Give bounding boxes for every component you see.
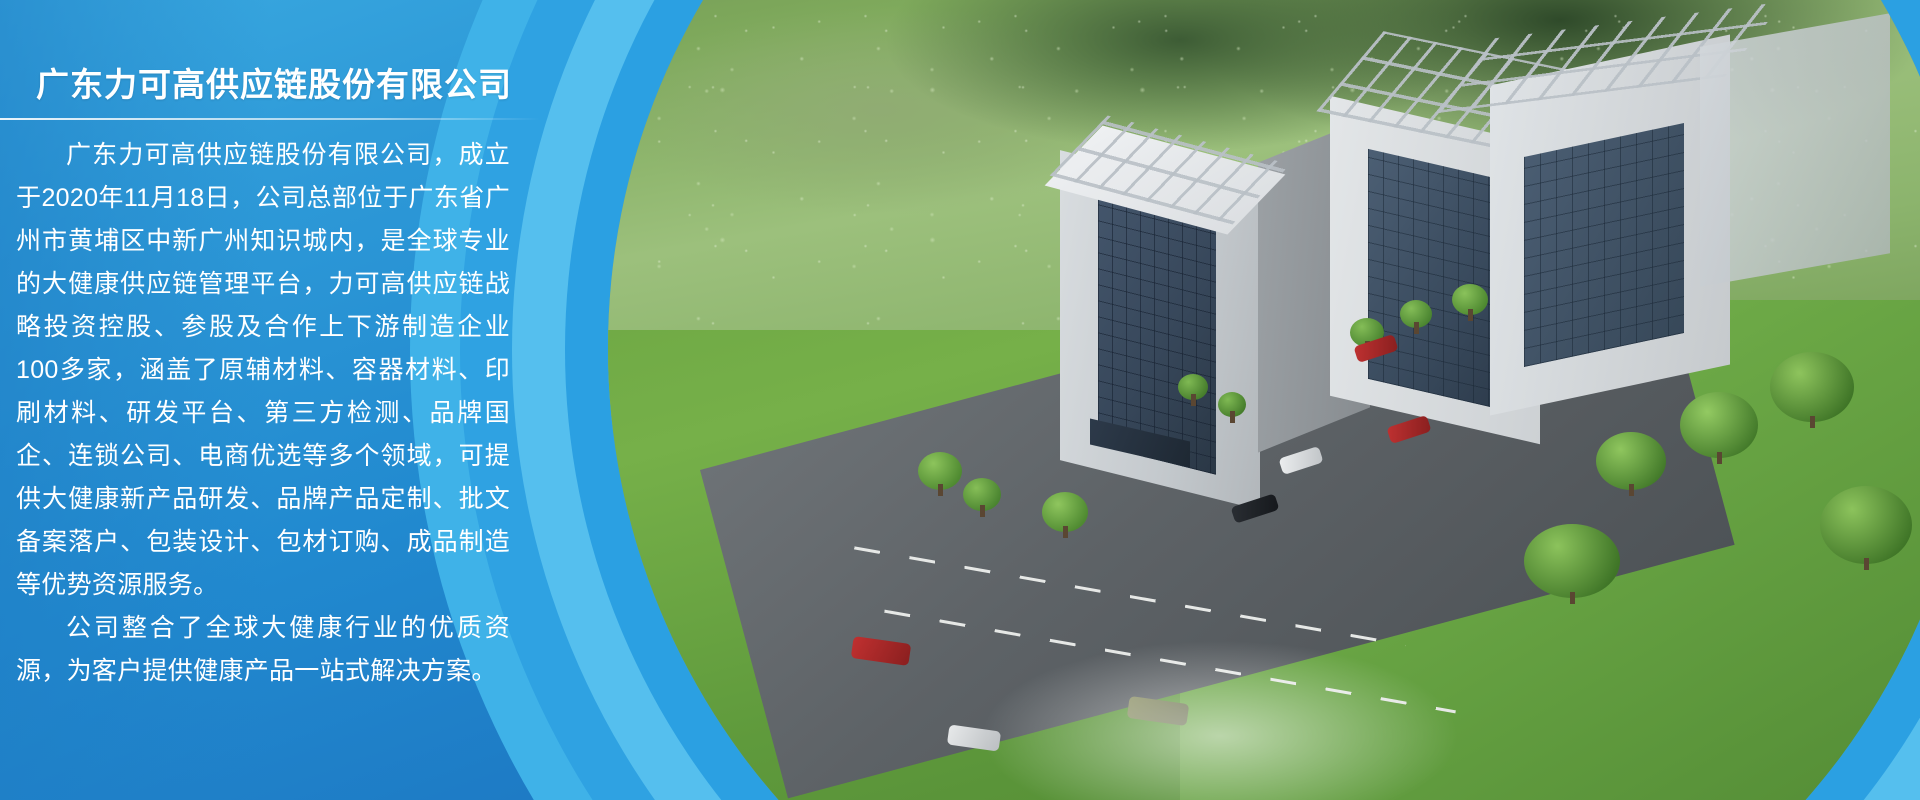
paragraph-2: 公司整合了全球大健康行业的优质资源，为客户提供健康产品一站式解决方案。 — [16, 607, 510, 693]
paragraph-1: 广东力可高供应链股份有限公司，成立于2020年11月18日，公司总部位于广东省广… — [16, 134, 510, 607]
page-title: 广东力可高供应链股份有限公司 — [36, 58, 512, 106]
text-column: 广东力可高供应链股份有限公司 广东力可高供应链股份有限公司，成立于2020年11… — [0, 0, 560, 800]
company-profile-banner: 广东力可高供应链股份有限公司 广东力可高供应链股份有限公司，成立于2020年11… — [0, 0, 1920, 800]
company-description: 广东力可高供应链股份有限公司，成立于2020年11月18日，公司总部位于广东省广… — [16, 134, 510, 693]
title-divider — [0, 118, 540, 120]
